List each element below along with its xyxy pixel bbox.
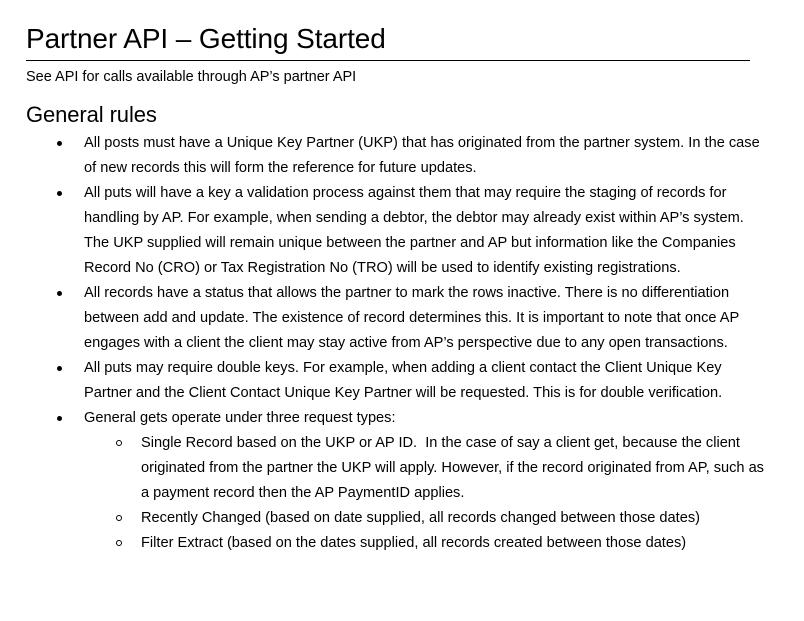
bullet-circle-icon [116,540,122,546]
section-heading-general-rules: General rules [0,87,804,131]
list-item-text: Single Record based on the UKP or AP ID.… [141,435,768,501]
list-item-text: All puts may require double keys. For ex… [84,360,726,401]
list-item-text: Filter Extract (based on the dates suppl… [141,535,686,551]
list-item-text: General gets operate under three request… [84,410,396,426]
list-item: Single Record based on the UKP or AP ID.… [0,431,804,506]
list-item: General gets operate under three request… [0,406,804,431]
bullet-disc-icon [57,191,62,196]
list-item: Filter Extract (based on the dates suppl… [0,531,804,556]
bullet-disc-icon [57,416,62,421]
bullet-disc-icon [57,366,62,371]
document-page: Partner API – Getting Started See API fo… [0,0,804,621]
general-rules-list: All posts must have a Unique Key Partner… [0,131,804,556]
list-item: All posts must have a Unique Key Partner… [0,131,804,181]
list-item: Recently Changed (based on date supplied… [0,506,804,531]
bullet-circle-icon [116,440,122,446]
request-types-list: Single Record based on the UKP or AP ID.… [0,431,804,556]
bullet-circle-icon [116,515,122,521]
list-item-text: Recently Changed (based on date supplied… [141,510,700,526]
list-item: All records have a status that allows th… [0,281,804,356]
list-item: All puts may require double keys. For ex… [0,356,804,406]
page-title: Partner API – Getting Started [0,0,804,60]
list-item-text: All puts will have a key a validation pr… [84,185,748,276]
bullet-disc-icon [57,291,62,296]
list-item-text: All records have a status that allows th… [84,285,743,351]
sub-list-container: Single Record based on the UKP or AP ID.… [0,431,804,556]
bullet-disc-icon [57,141,62,146]
list-item-text: All posts must have a Unique Key Partner… [84,135,764,176]
list-item: All puts will have a key a validation pr… [0,181,804,281]
document-subtitle: See API for calls available through AP’s… [0,61,804,87]
